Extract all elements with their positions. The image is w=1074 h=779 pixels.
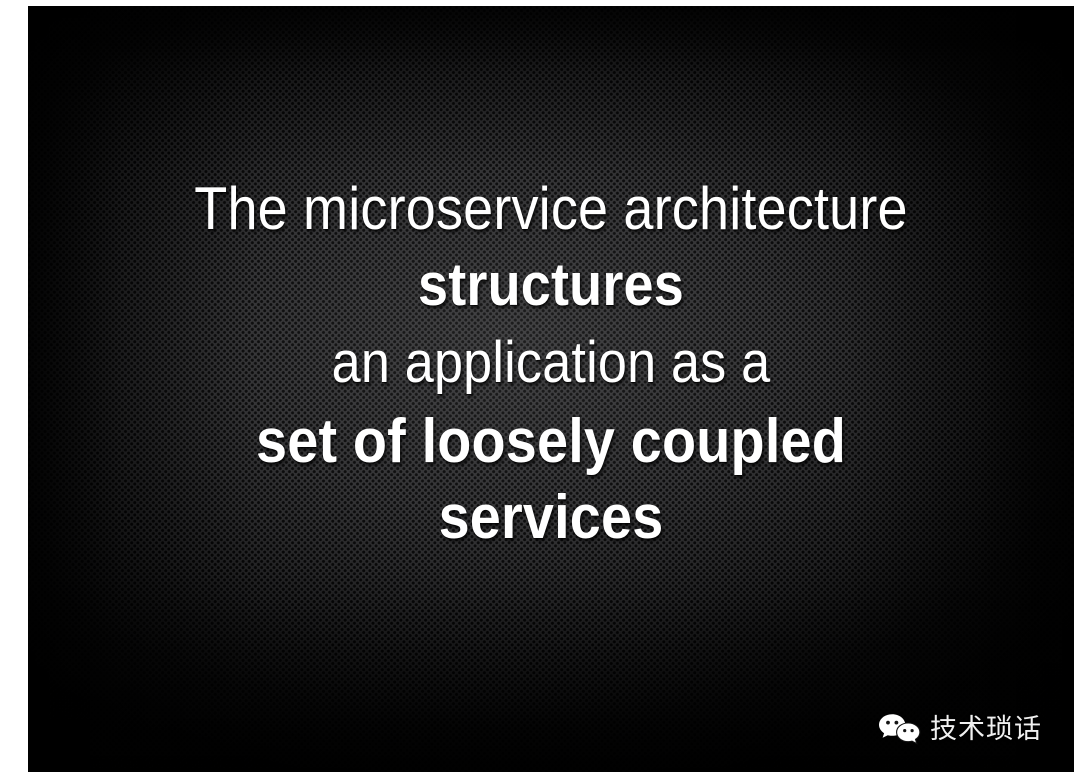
watermark-label: 技术琐话 xyxy=(930,716,1042,743)
wechat-logo-icon xyxy=(878,712,922,746)
quote-line-3: an application as a xyxy=(80,328,1021,398)
slide-canvas: The microservice architecture structures… xyxy=(0,0,1074,779)
quote-line-1: The microservice architecture xyxy=(80,174,1021,244)
quote-line-2: structures xyxy=(80,250,1021,320)
watermark: 技术琐话 xyxy=(878,712,1042,746)
quote-line-5: services xyxy=(80,482,1021,554)
slide-surface: The microservice architecture structures… xyxy=(28,6,1074,772)
quote-block: The microservice architecture structures… xyxy=(28,174,1074,554)
quote-line-4: set of loosely coupled xyxy=(80,406,1021,478)
